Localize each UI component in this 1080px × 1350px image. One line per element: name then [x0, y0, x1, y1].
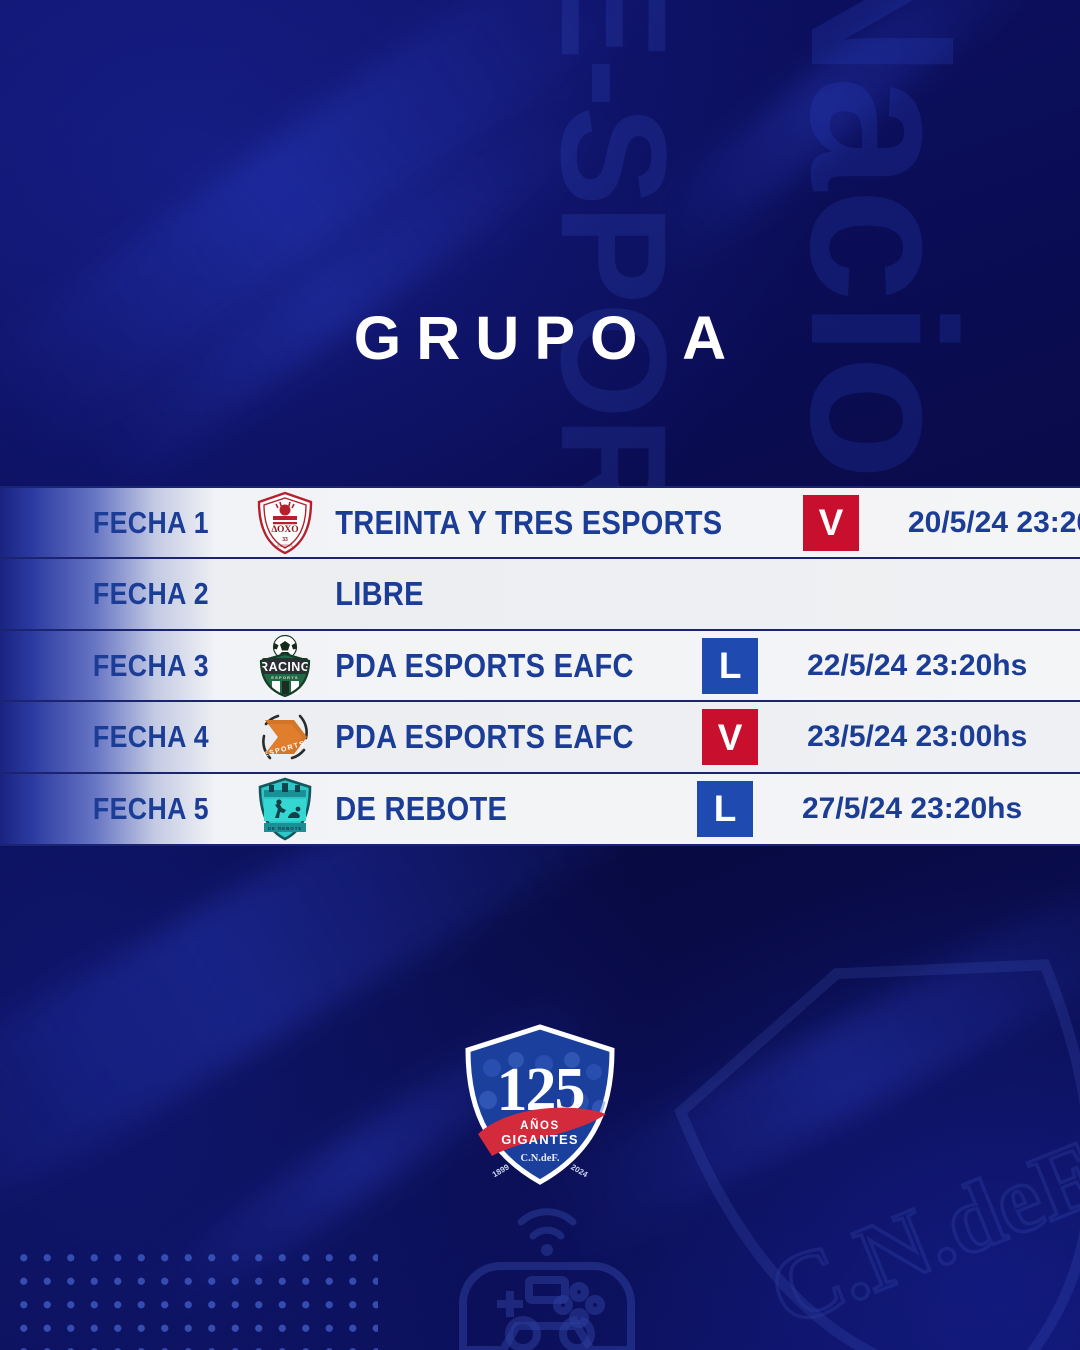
svg-text:ESPORTS: ESPORTS [277, 544, 292, 548]
svg-text:RACING: RACING [259, 660, 311, 674]
page-title: GRUPO A [0, 303, 1080, 373]
table-row[interactable]: FECHA 2 LIBRE [0, 557, 1080, 631]
condition-cell: L [670, 781, 780, 837]
match-datetime: 22/5/24 23:20hs [785, 649, 1080, 683]
matchday-label: FECHA 2 [0, 576, 206, 612]
svg-text:2024: 2024 [569, 1162, 589, 1179]
match-datetime: 23/5/24 23:00hs [785, 720, 1080, 754]
matchday-label: FECHA 5 [0, 791, 206, 827]
table-row[interactable]: FECHA 3 RACING ESPORTS [0, 629, 1080, 703]
matchday-label: FECHA 3 [0, 648, 206, 684]
team-name: DE REBOTE [330, 790, 629, 828]
svg-text:GIGANTES: GIGANTES [501, 1132, 579, 1147]
fixtures-table: FECHA 1 ΔΟΧΟ 33 ESPORTS TREINTA Y TR [0, 488, 1080, 846]
svg-text:AÑOS: AÑOS [520, 1119, 560, 1132]
team-name: PDA ESPORTS EAFC [330, 718, 634, 756]
club-crest-125-logo: 125 AÑOS GIGANTES C.N.deF. 1899 2024 [460, 1022, 620, 1188]
svg-text:DE REBOTE: DE REBOTE [268, 826, 303, 831]
matchday-label: FECHA 4 [0, 719, 206, 755]
team-name: LIBRE [330, 575, 629, 613]
team-name: PDA ESPORTS EAFC [330, 647, 634, 685]
condition-cell: V [776, 495, 886, 551]
svg-text:1899: 1899 [491, 1162, 511, 1179]
svg-text:33: 33 [282, 537, 288, 543]
status-badge [697, 566, 753, 622]
status-badge: L [697, 781, 753, 837]
status-badge: L [702, 638, 758, 694]
match-datetime: 20/5/24 23:20hs [886, 506, 1080, 540]
no-logo [240, 562, 330, 626]
watermark-shield-icon: C.N.deF. [626, 875, 1080, 1350]
table-row[interactable]: FECHA 1 ΔΟΧΟ 33 ESPORTS TREINTA Y TR [0, 486, 1080, 560]
de-rebote-logo: DE REBOTE [240, 777, 330, 841]
status-badge: V [803, 495, 859, 551]
watermark-gamepad-icon [437, 1200, 657, 1350]
condition-cell: L [675, 638, 785, 694]
table-row[interactable]: FECHA 4 ESPORTS PDA ESPORTS EAFC V [0, 700, 1080, 774]
matchday-label: FECHA 1 [0, 505, 206, 541]
status-badge: V [702, 709, 758, 765]
poster-canvas: E-SPORTS Nacional C.N.deF. [0, 0, 1080, 1350]
team-name: TREINTA Y TRES ESPORTS [330, 504, 722, 542]
condition-cell: V [675, 709, 785, 765]
condition-cell [670, 566, 780, 622]
svg-text:C.N.deF.: C.N.deF. [521, 1153, 560, 1164]
background-dot-grid [8, 1240, 378, 1350]
svg-text:C.N.deF.: C.N.deF. [755, 1114, 1080, 1347]
racing-esports-logo: RACING ESPORTS [240, 634, 330, 698]
table-row[interactable]: FECHA 5 [0, 772, 1080, 846]
pda-esports-logo: ESPORTS [240, 705, 330, 769]
treinta-y-tres-esports-logo: ΔΟΧΟ 33 ESPORTS [240, 491, 330, 555]
svg-text:ΔΟΧΟ: ΔΟΧΟ [271, 525, 298, 535]
match-datetime: 27/5/24 23:20hs [780, 792, 1080, 826]
svg-text:ESPORTS: ESPORTS [271, 675, 299, 680]
